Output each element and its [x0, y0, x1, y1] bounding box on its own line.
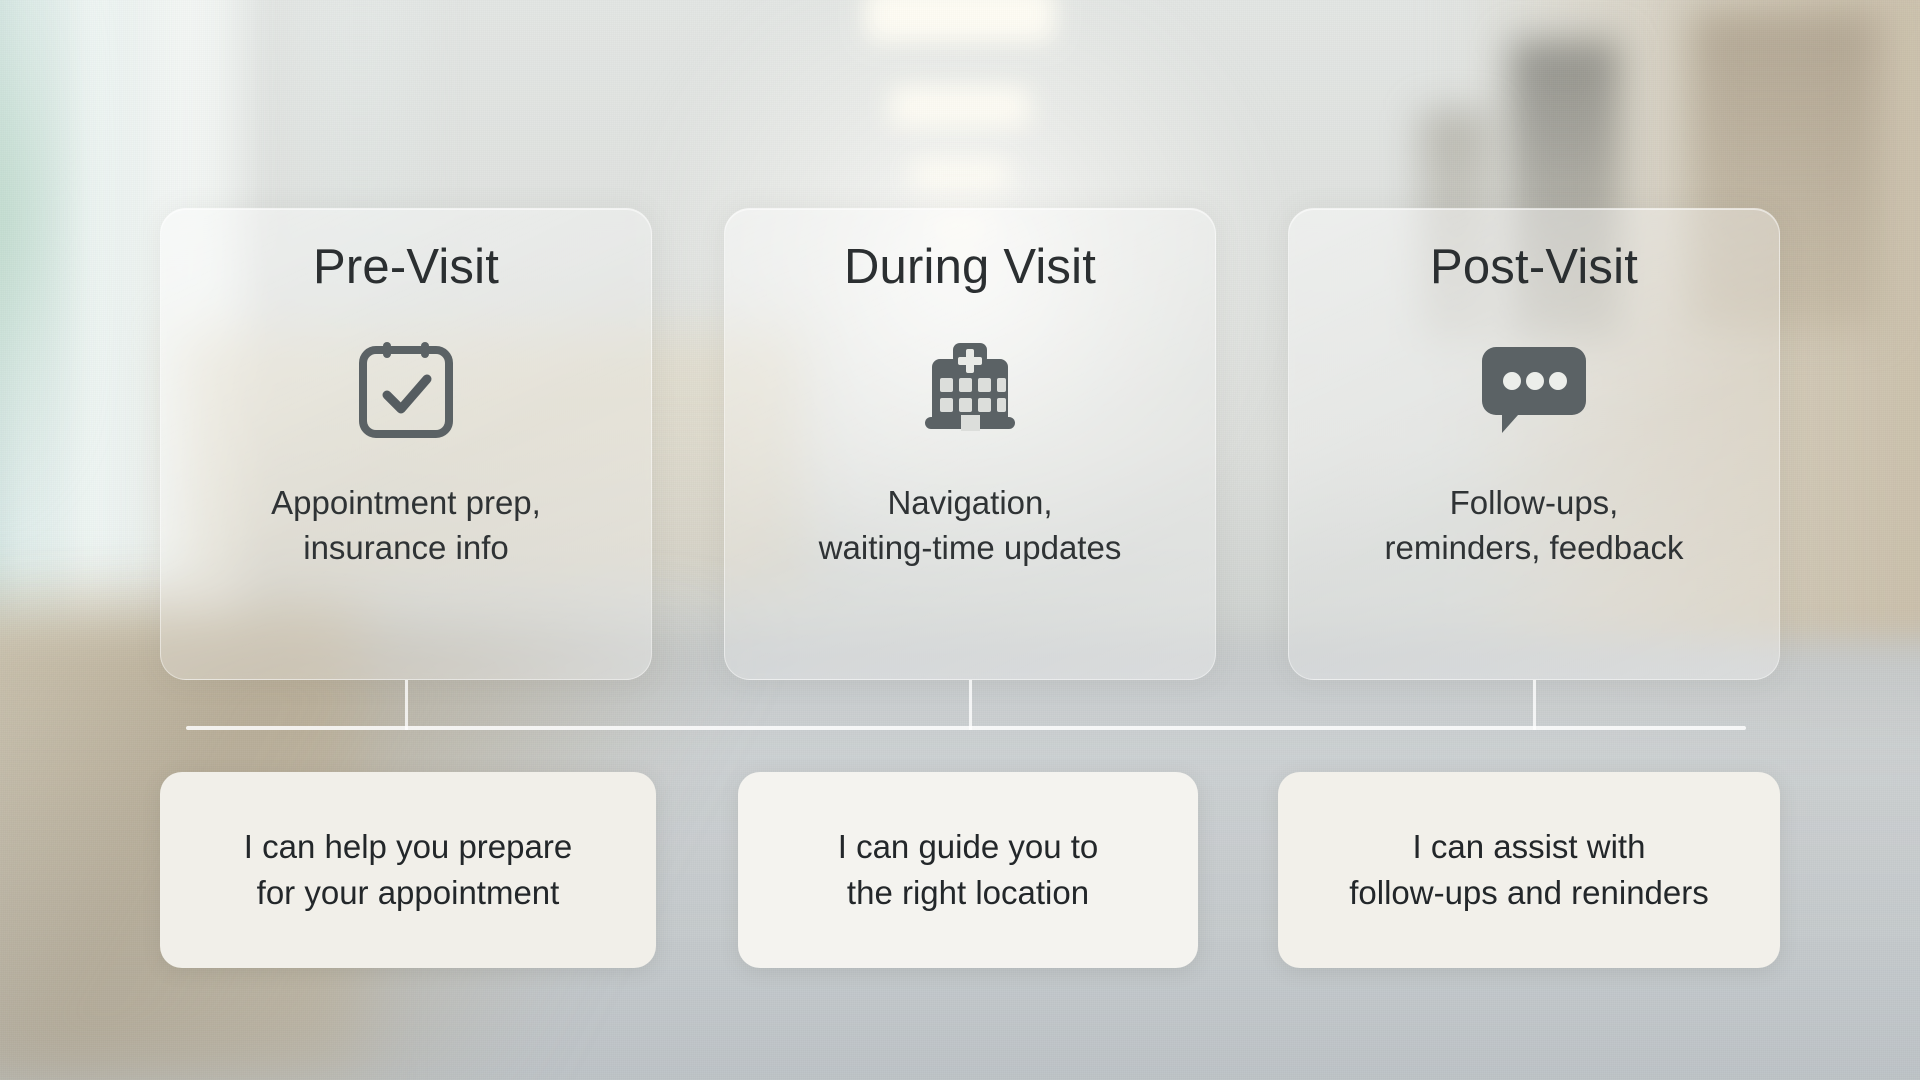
stage-card-post-visit[interactable]: Post-Visit Follow-ups, reminders, feedba…	[1288, 208, 1780, 680]
bubble-text: I can assist with follow-ups and reninde…	[1349, 824, 1709, 915]
card-description-line: Follow-ups,	[1385, 481, 1684, 526]
card-description: Appointment prep, insurance info	[271, 481, 541, 571]
card-description-line: Navigation,	[819, 481, 1122, 526]
bubble-text-line: follow-ups and reninders	[1349, 870, 1709, 916]
assistant-bubble-during-visit[interactable]: I can guide you to the right location	[738, 772, 1198, 968]
card-description-line: waiting-time updates	[819, 526, 1122, 571]
stage-card-during-visit[interactable]: During Visit	[724, 208, 1216, 680]
calendar-check-icon	[358, 337, 454, 441]
card-description-line: insurance info	[271, 526, 541, 571]
assistant-bubbles-row: I can help you prepare for your appointm…	[160, 772, 1780, 968]
connector-vertical-during-visit	[969, 680, 972, 730]
stage-card-pre-visit[interactable]: Pre-Visit Appointment prep, insurance in…	[160, 208, 652, 680]
chat-bubble-dots-icon	[1480, 337, 1588, 441]
card-description: Navigation, waiting-time updates	[819, 481, 1122, 571]
card-title: Pre-Visit	[313, 241, 499, 295]
assistant-bubble-pre-visit[interactable]: I can help you prepare for your appointm…	[160, 772, 656, 968]
card-title: Post-Visit	[1430, 241, 1638, 295]
card-description-line: Appointment prep,	[271, 481, 541, 526]
bubble-text-line: I can assist with	[1349, 824, 1709, 870]
connector-vertical-post-visit	[1533, 680, 1536, 730]
connector-horizontal-timeline	[186, 726, 1746, 730]
stage-cards-row: Pre-Visit Appointment prep, insurance in…	[160, 208, 1780, 680]
assistant-bubble-post-visit[interactable]: I can assist with follow-ups and reninde…	[1278, 772, 1780, 968]
card-description-line: reminders, feedback	[1385, 526, 1684, 571]
card-description: Follow-ups, reminders, feedback	[1385, 481, 1684, 571]
bubble-text-line: I can help you prepare	[244, 824, 572, 870]
card-title: During Visit	[844, 241, 1096, 295]
connector-vertical-pre-visit	[405, 680, 408, 730]
bubble-text-line: the right location	[838, 870, 1099, 916]
bubble-text-line: for your appointment	[244, 870, 572, 916]
bubble-text: I can guide you to the right location	[838, 824, 1099, 915]
hospital-building-icon	[920, 337, 1020, 441]
journey-diagram: Pre-Visit Appointment prep, insurance in…	[0, 0, 1920, 1080]
bubble-text: I can help you prepare for your appointm…	[244, 824, 572, 915]
bubble-text-line: I can guide you to	[838, 824, 1099, 870]
